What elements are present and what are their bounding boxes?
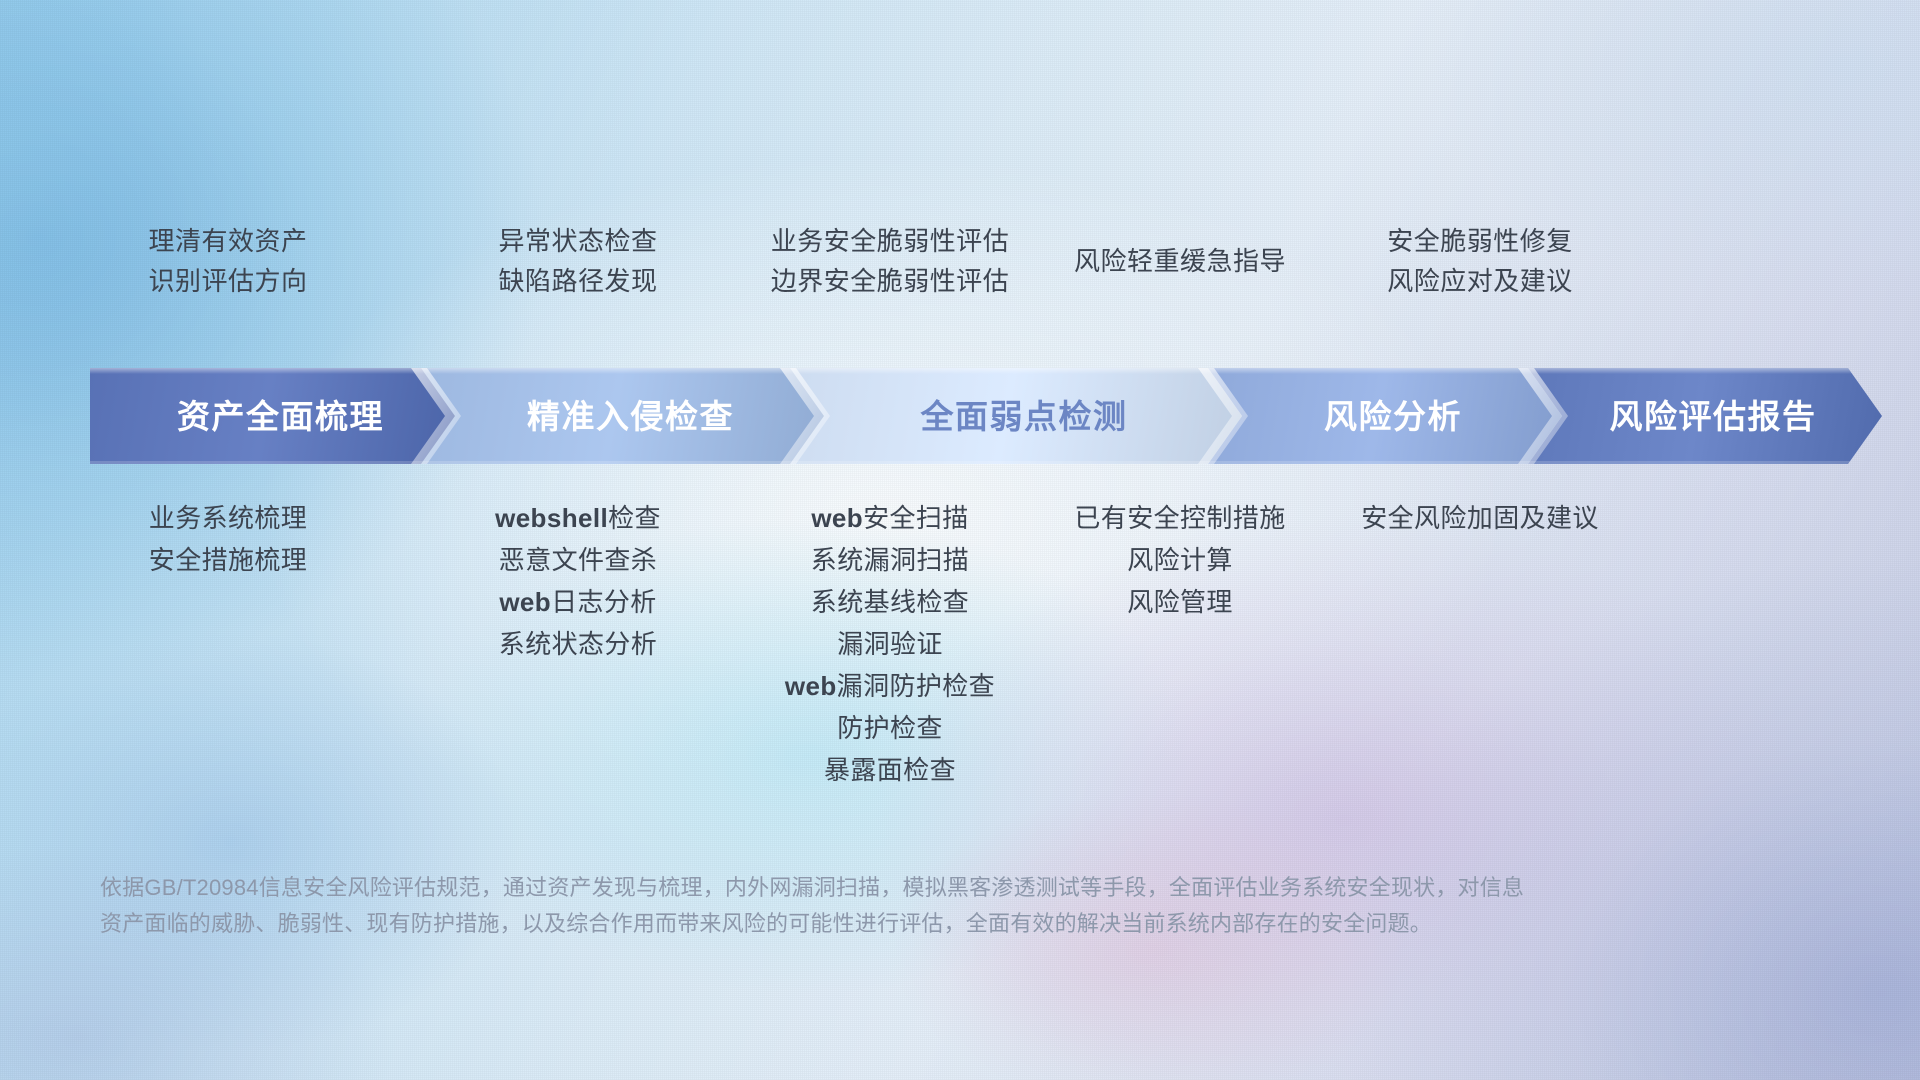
task-item[interactable]: 业务系统梳理	[149, 505, 307, 531]
arrow-label-risk-analysis: 风险分析	[1308, 400, 1462, 433]
top-note: 理清有效资产	[148, 228, 307, 254]
task-item[interactable]: 安全风险加固及建议	[1361, 505, 1599, 531]
task-item-keyword: web	[785, 671, 837, 701]
task-list-risk-report: 安全风险加固及建议	[1220, 505, 1740, 531]
process-arrow-band: 资产全面梳理精准入侵检查全面弱点检测风险分析风险评估报告	[90, 368, 1848, 464]
task-item-rest: 漏洞防护检查	[837, 671, 995, 701]
top-note: 安全脆弱性修复	[1387, 228, 1573, 254]
task-item-keyword: web	[499, 587, 551, 617]
arrow-label-intrusion-check: 精准入侵检查	[511, 400, 734, 433]
task-item[interactable]: 风险计算	[1127, 547, 1233, 573]
footer-description: 依据GB/T20984信息安全风险评估规范，通过资产发现与梳理，内外网漏洞扫描，…	[100, 870, 1820, 941]
process-arrow-intrusion-check[interactable]: 精准入侵检查	[421, 368, 824, 464]
process-arrow-asset-inventory[interactable]: 资产全面梳理	[90, 368, 455, 464]
task-item-keyword: webshell	[495, 503, 608, 533]
infographic-stage: 理清有效资产识别评估方向异常状态检查缺陷路径发现业务安全脆弱性评估边界安全脆弱性…	[0, 0, 1920, 1080]
task-item[interactable]: 风险管理	[1127, 589, 1233, 615]
task-item[interactable]: 暴露面检查	[824, 757, 956, 783]
top-note: 风险应对及建议	[1387, 268, 1573, 294]
task-item[interactable]: 漏洞验证	[837, 631, 943, 657]
process-arrow-risk-analysis[interactable]: 风险分析	[1208, 368, 1562, 464]
process-arrow-risk-report[interactable]: 风险评估报告	[1528, 368, 1882, 464]
task-item[interactable]: 安全措施梳理	[149, 547, 307, 573]
top-note: 识别评估方向	[148, 268, 307, 294]
footer-line-1: 依据GB/T20984信息安全风险评估规范，通过资产发现与梳理，内外网漏洞扫描，…	[100, 870, 1820, 906]
task-item[interactable]: 防护检查	[837, 715, 943, 741]
arrow-label-risk-report: 风险评估报告	[1594, 400, 1817, 433]
task-item[interactable]: web漏洞防护检查	[785, 673, 995, 699]
top-notes-risk-report: 安全脆弱性修复风险应对及建议	[1220, 228, 1740, 294]
arrow-label-weakness-detection: 全面弱点检测	[905, 400, 1128, 433]
footer-line-2: 资产面临的威胁、脆弱性、现有防护措施，以及综合作用而带来风险的可能性进行评估，全…	[100, 906, 1820, 942]
arrow-label-asset-inventory: 资产全面梳理	[161, 400, 384, 433]
task-item-keyword: web	[811, 503, 863, 533]
process-arrow-weakness-detection[interactable]: 全面弱点检测	[790, 368, 1242, 464]
